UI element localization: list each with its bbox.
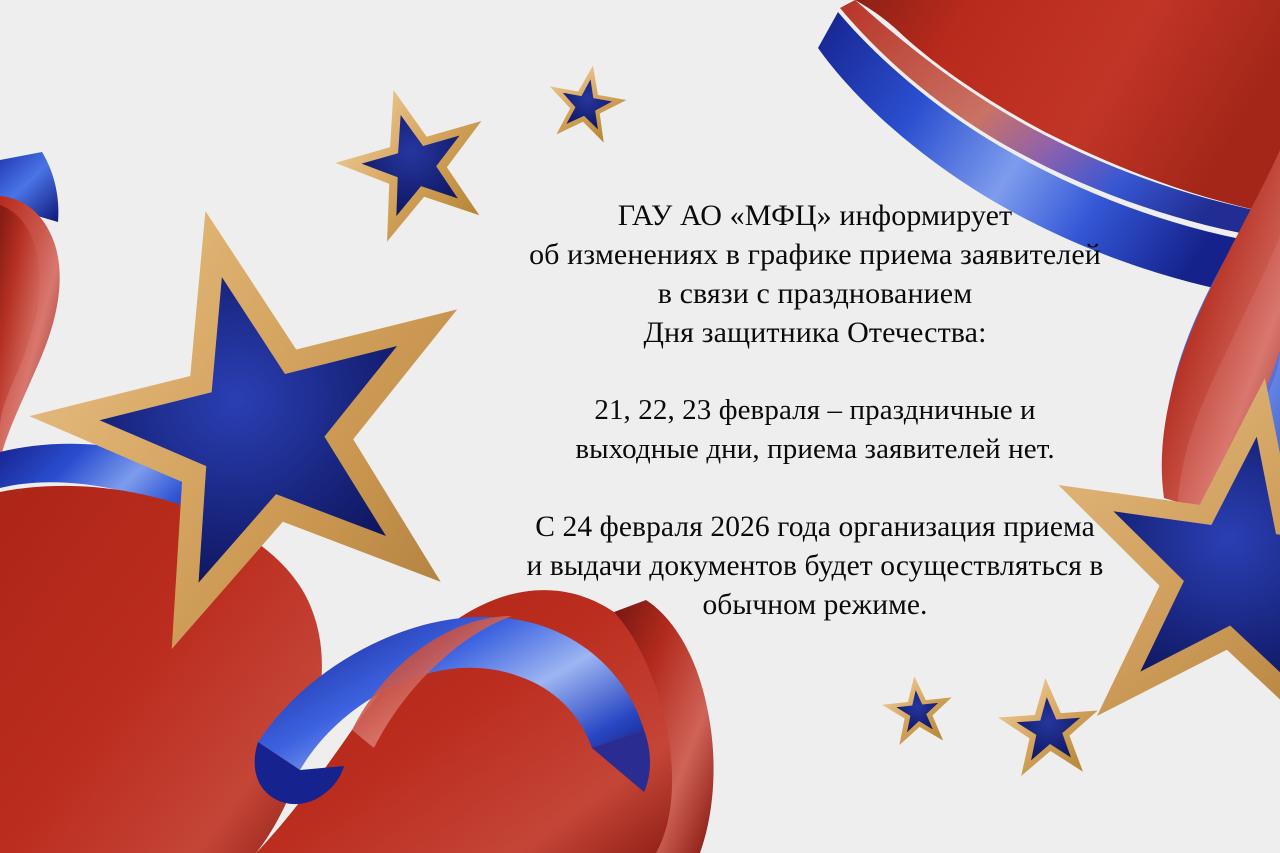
announcement-text: ГАУ АО «МФЦ» информирует об изменениях в… <box>455 196 1175 625</box>
paragraph-intro: ГАУ АО «МФЦ» информирует об изменениях в… <box>455 196 1175 352</box>
text-line: и выдачи документов будет осуществляться… <box>455 547 1175 586</box>
text-line: в связи с празднованием <box>455 274 1175 313</box>
paragraph-resume-notice: С 24 февраля 2026 года организация прием… <box>455 508 1175 625</box>
poster-canvas: ГАУ АО «МФЦ» информирует об изменениях в… <box>0 0 1280 853</box>
text-line: ГАУ АО «МФЦ» информирует <box>455 196 1175 235</box>
text-line: С 24 февраля 2026 года организация прием… <box>455 508 1175 547</box>
paragraph-holiday-days: 21, 22, 23 февраля – праздничные и выход… <box>455 391 1175 469</box>
text-line: выходные дни, приема заявителей нет. <box>455 430 1175 469</box>
text-line: об изменениях в графике приема заявителе… <box>455 235 1175 274</box>
text-line: Дня защитника Отечества: <box>455 313 1175 352</box>
text-line: обычном режиме. <box>455 586 1175 625</box>
text-line: 21, 22, 23 февраля – праздничные и <box>455 391 1175 430</box>
